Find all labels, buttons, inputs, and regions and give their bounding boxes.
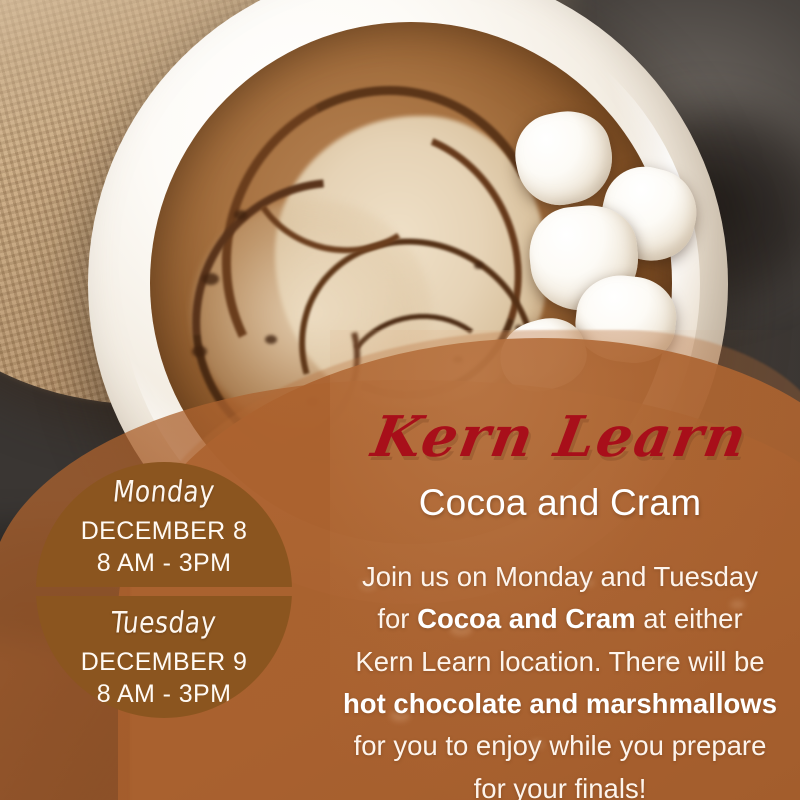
- description-line-3: Kern Learn location. There will be: [310, 641, 800, 683]
- date-day-label: Monday: [111, 474, 216, 508]
- cocoa-speck: [234, 210, 247, 220]
- event-description: Join us on Monday and Tuesday for Cocoa …: [310, 556, 800, 800]
- description-line-2-pre: for: [377, 603, 417, 634]
- cocoa-speck: [202, 273, 219, 285]
- date-date-label: DECEMBER 8: [81, 515, 248, 547]
- date-time-label: 8 AM - 3PM: [97, 678, 232, 710]
- cocoa-speck: [474, 262, 483, 269]
- cocoa-speck: [192, 346, 207, 357]
- date-date-label: DECEMBER 9: [81, 646, 248, 678]
- description-line-2: for Cocoa and Cram at either: [310, 598, 800, 640]
- event-subtitle: Cocoa and Cram: [330, 482, 790, 524]
- date-time-label: 8 AM - 3PM: [97, 547, 232, 579]
- description-line-2-bold: Cocoa and Cram: [417, 603, 636, 634]
- description-line-5: for you to enjoy while you prepare: [310, 725, 800, 767]
- date-circle-divider: [36, 587, 292, 596]
- description-line-6: for your finals!: [310, 768, 800, 800]
- event-dates-circle: Monday DECEMBER 8 8 AM - 3PM Tuesday DEC…: [36, 462, 292, 718]
- description-line-4: hot chocolate and marshmallows: [310, 683, 800, 725]
- cocoa-speck: [265, 335, 277, 344]
- description-line-4-bold: hot chocolate and marshmallows: [343, 688, 777, 719]
- description-line-2-post: at either: [636, 603, 743, 634]
- description-line-1: Join us on Monday and Tuesday: [310, 556, 800, 598]
- date-day-label: Tuesday: [110, 605, 219, 639]
- poster-canvas: Monday DECEMBER 8 8 AM - 3PM Tuesday DEC…: [0, 0, 800, 800]
- brand-title: Kern Learn: [324, 404, 796, 470]
